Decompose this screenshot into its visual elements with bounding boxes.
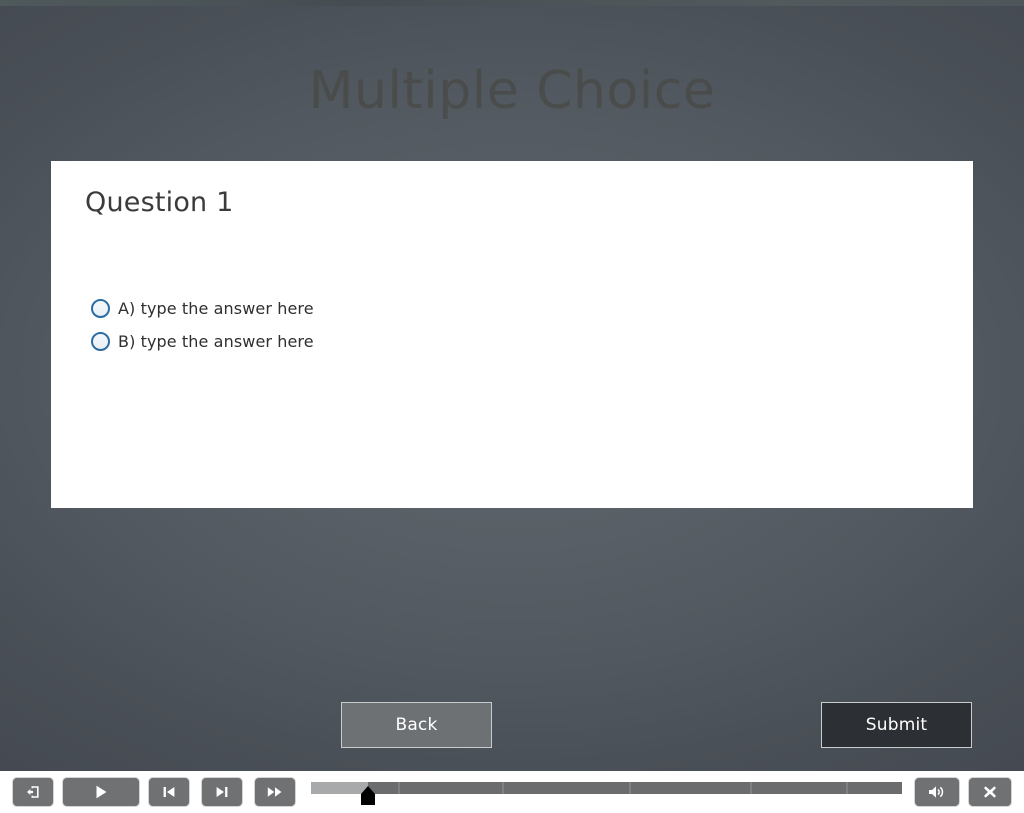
radio-button-icon[interactable] bbox=[91, 332, 110, 351]
fast-forward-button[interactable] bbox=[254, 777, 296, 807]
exit-icon bbox=[25, 784, 41, 800]
question-heading: Question 1 bbox=[85, 187, 234, 218]
skip-forward-icon bbox=[214, 784, 230, 800]
page-title: Multiple Choice bbox=[0, 56, 1024, 126]
close-button[interactable] bbox=[968, 777, 1012, 807]
answer-option-a[interactable]: A) type the answer here bbox=[91, 292, 931, 324]
seek-progress-fill bbox=[311, 782, 368, 794]
fast-forward-icon bbox=[266, 784, 284, 800]
seek-segment-divider bbox=[398, 782, 400, 794]
submit-button[interactable]: Submit bbox=[821, 702, 972, 748]
close-icon bbox=[982, 784, 998, 800]
slide-viewer: Multiple Choice Question 1 A) type the a… bbox=[0, 0, 1024, 813]
skip-back-icon bbox=[161, 784, 177, 800]
seek-bar[interactable] bbox=[311, 782, 902, 794]
watermark-text: ······· ·· bbox=[52, 693, 110, 711]
answer-option-b[interactable]: B) type the answer here bbox=[91, 325, 931, 357]
top-edge-band bbox=[0, 0, 1024, 6]
question-card: Question 1 A) type the answer here B) ty… bbox=[51, 161, 973, 508]
next-slide-button[interactable] bbox=[201, 777, 243, 807]
back-button[interactable]: Back bbox=[341, 702, 492, 748]
volume-button[interactable] bbox=[914, 777, 960, 807]
back-button-label: Back bbox=[395, 715, 437, 735]
previous-slide-button[interactable] bbox=[148, 777, 190, 807]
answer-option-label: A) type the answer here bbox=[118, 299, 314, 318]
answer-options-list: A) type the answer here B) type the answ… bbox=[91, 292, 931, 358]
submit-button-label: Submit bbox=[866, 715, 928, 735]
radio-button-icon[interactable] bbox=[91, 299, 110, 318]
volume-icon bbox=[927, 784, 947, 800]
play-icon bbox=[92, 783, 110, 801]
seek-segment-divider bbox=[629, 782, 631, 794]
seek-segment-divider bbox=[502, 782, 504, 794]
exit-button[interactable] bbox=[12, 777, 54, 807]
seek-segment-divider bbox=[750, 782, 752, 794]
seek-segment-divider bbox=[846, 782, 848, 794]
answer-option-label: B) type the answer here bbox=[118, 332, 314, 351]
play-button[interactable] bbox=[62, 777, 140, 807]
